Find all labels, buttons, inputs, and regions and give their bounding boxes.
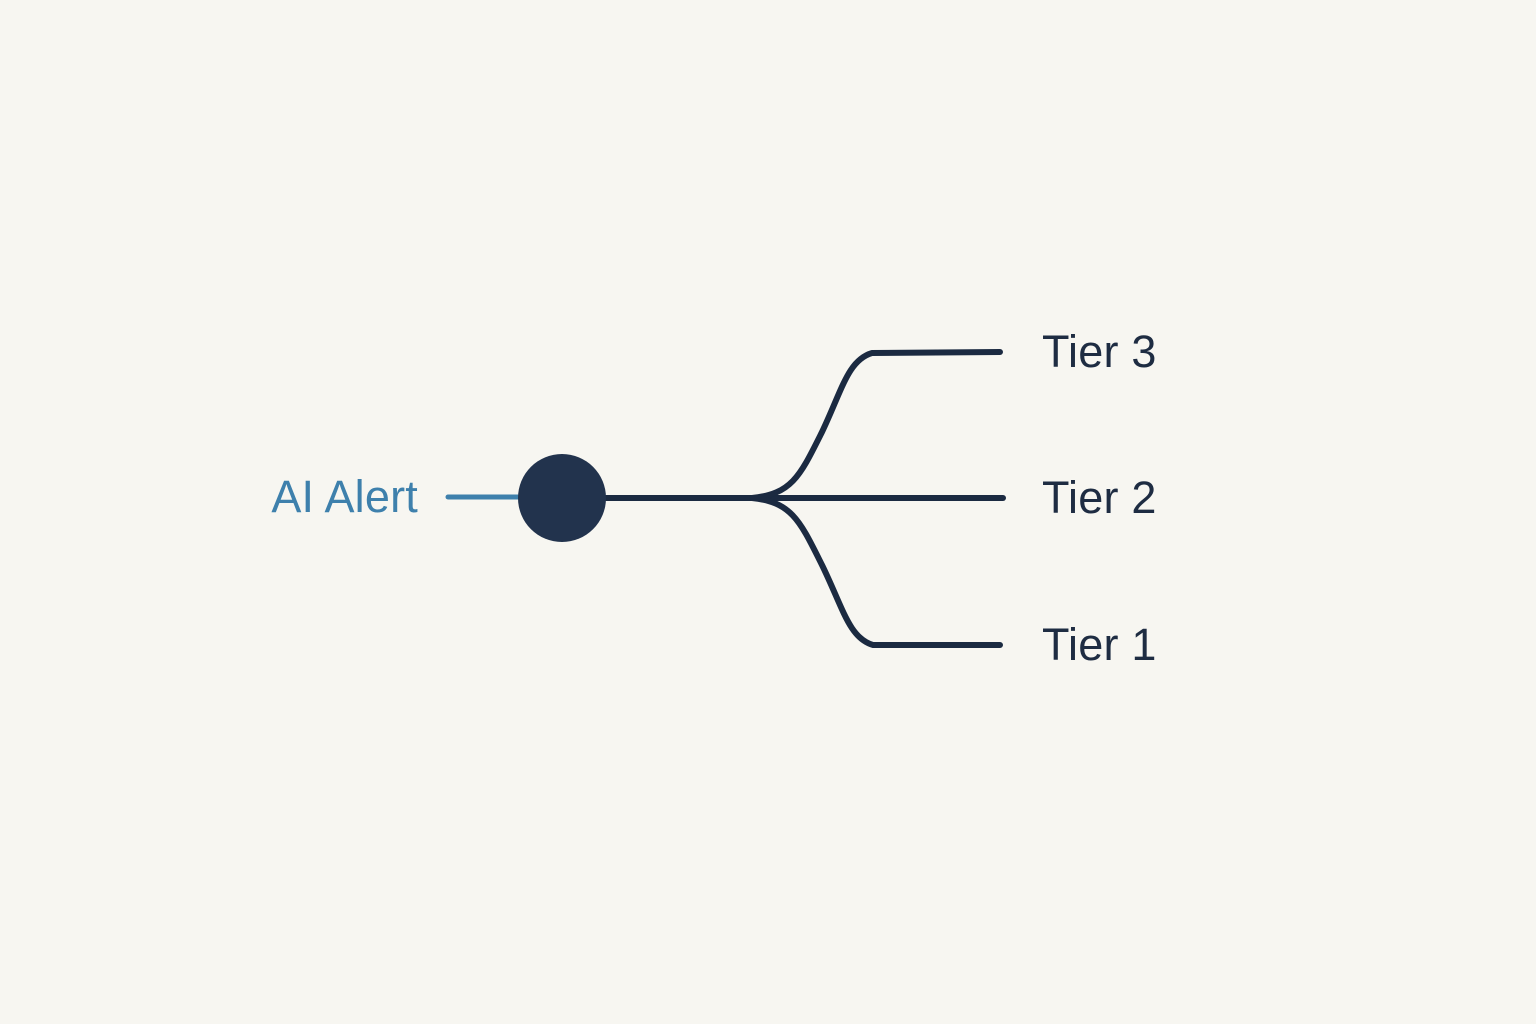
flow-graphic (0, 0, 1536, 1024)
branch-label-tier-3: Tier 3 (1042, 329, 1157, 374)
branch-label-tier-2: Tier 2 (1042, 475, 1157, 520)
source-label: AI Alert (271, 474, 418, 519)
alert-node-circle[interactable] (518, 454, 606, 542)
branch-line-top (752, 352, 1000, 498)
diagram-canvas: AI Alert Tier 3 Tier 2 Tier 1 (0, 0, 1536, 1024)
branch-line-bottom (752, 498, 1000, 645)
branch-label-tier-1: Tier 1 (1042, 622, 1157, 667)
